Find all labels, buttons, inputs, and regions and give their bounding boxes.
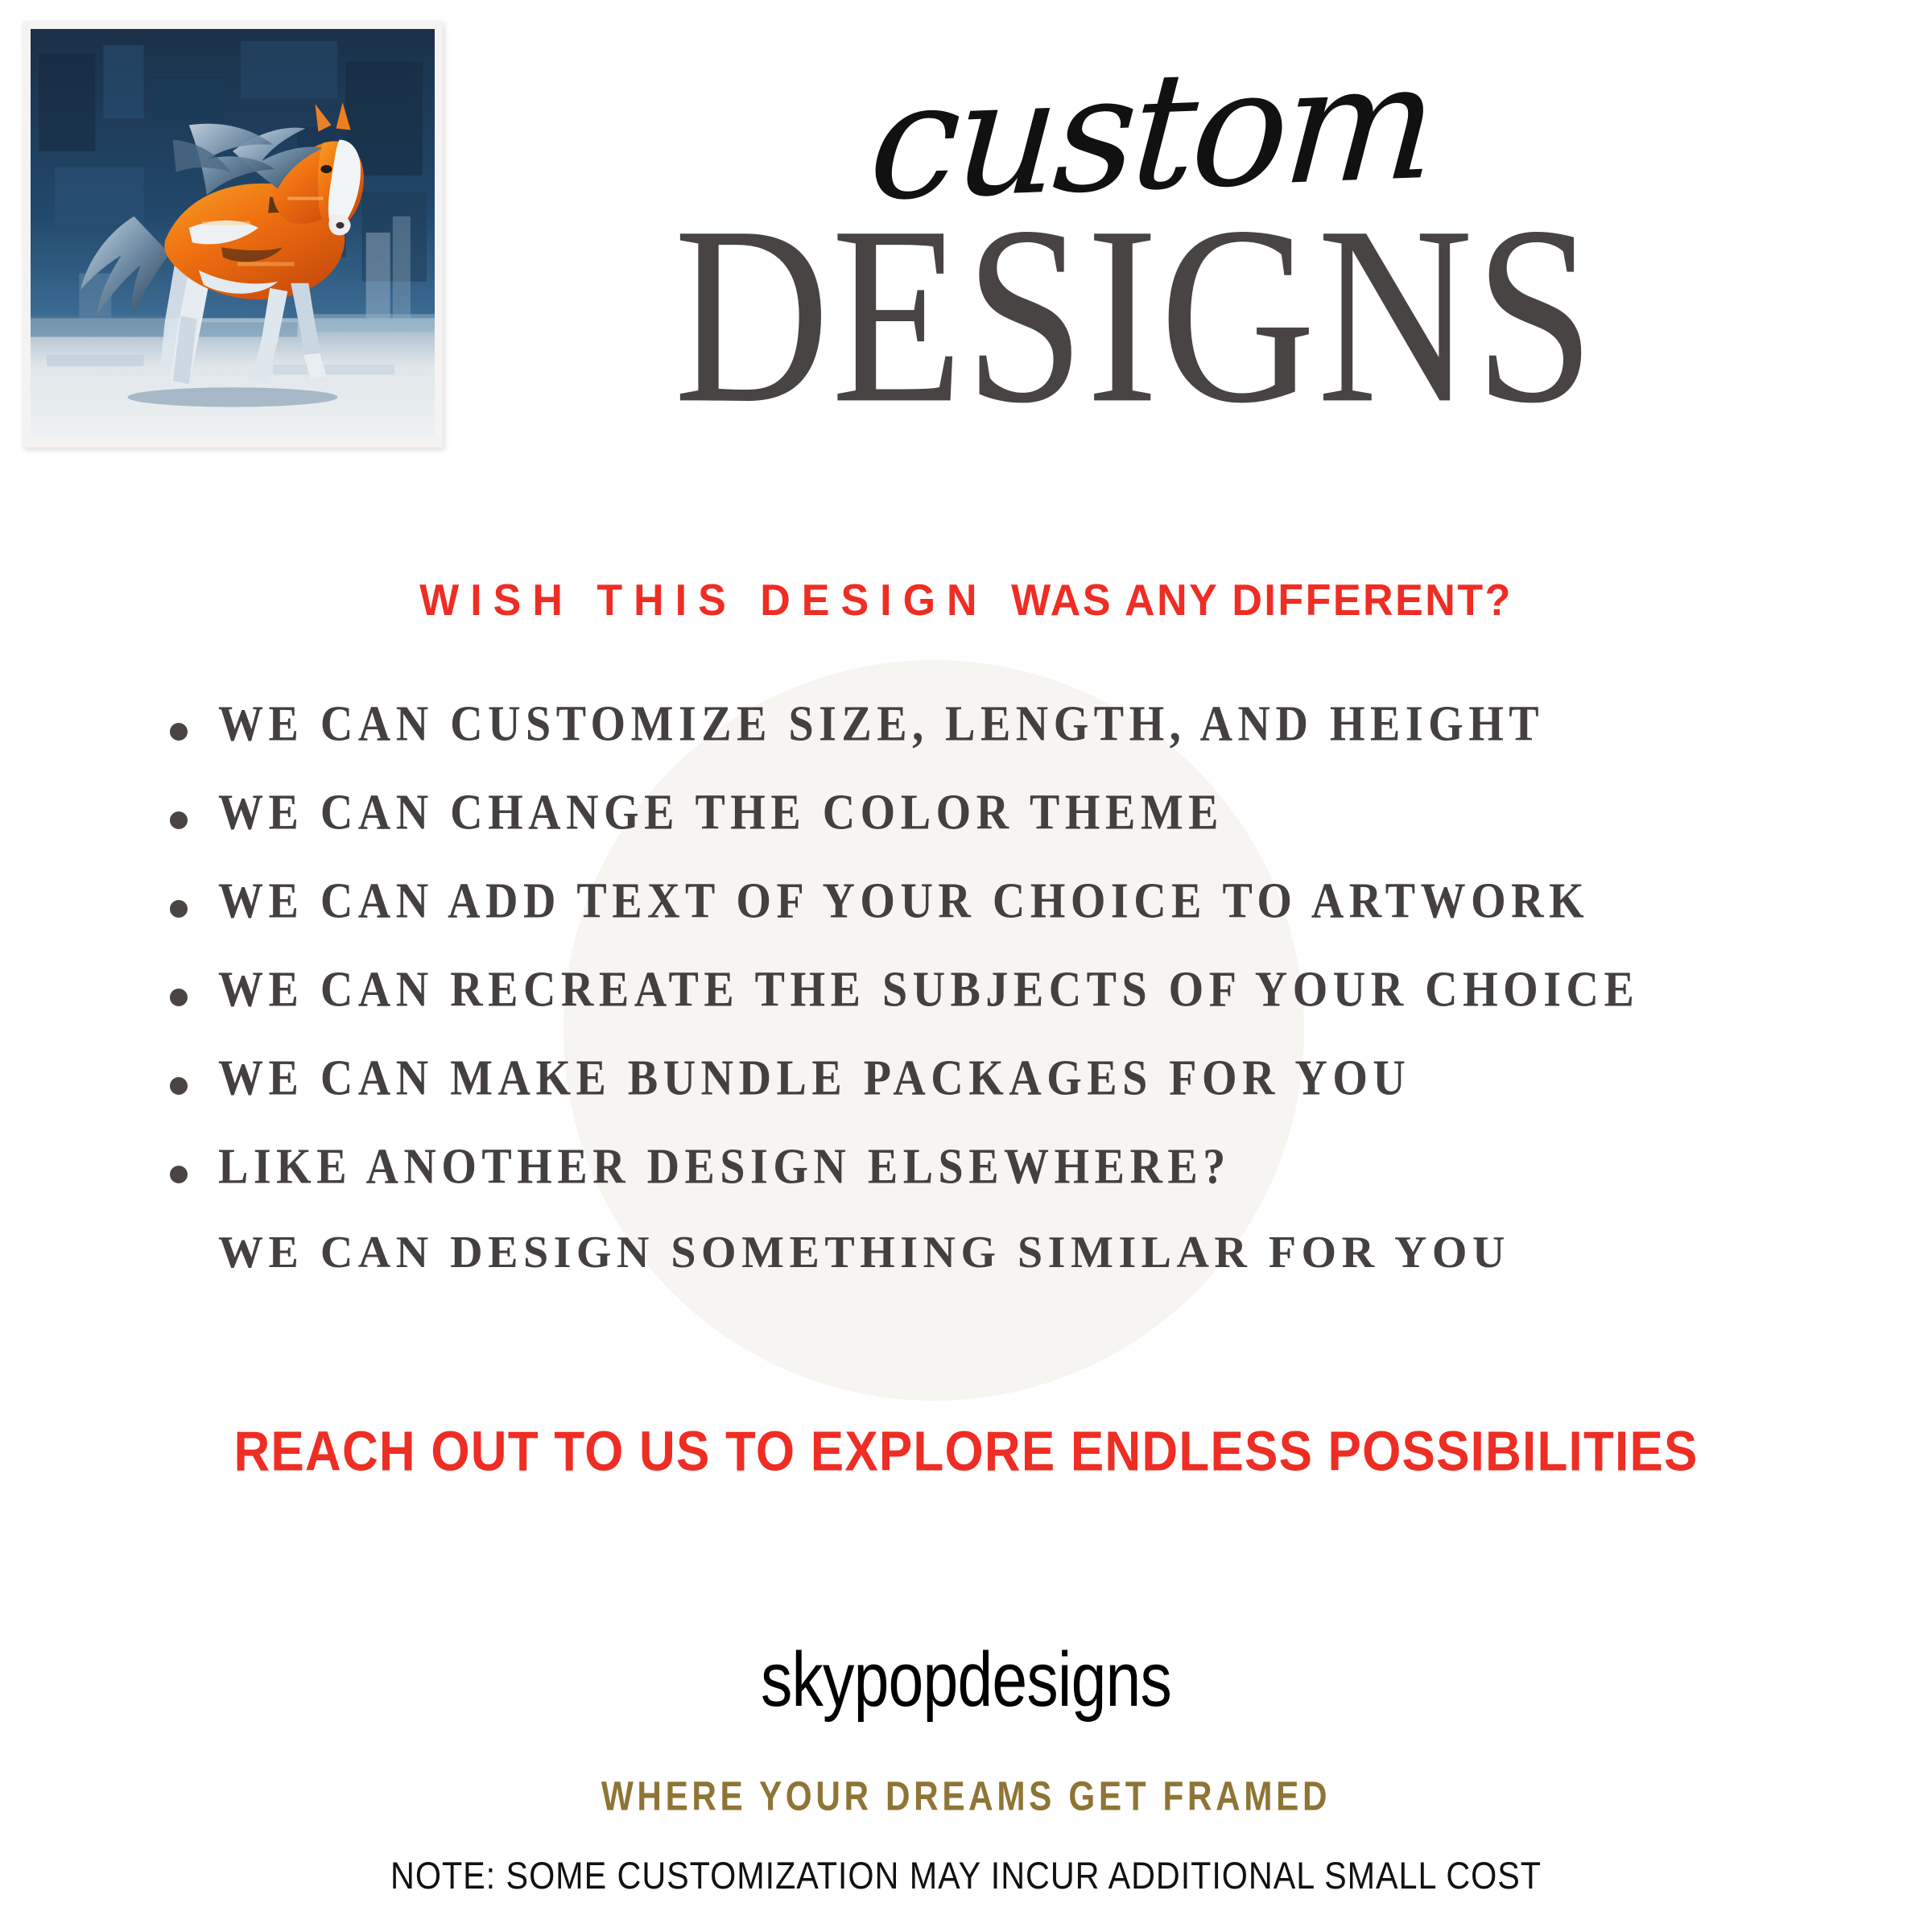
list-item: WE CAN MAKE BUNDLE PACKAGES FOR YOU [157,1053,1864,1141]
call-to-action-text: REACH OUT TO US TO EXPLORE ENDLESS POSSI… [0,1420,1932,1484]
list-item-continuation: WE CAN DESIGN SOMETHING SIMILAR FOR YOU [157,1230,1864,1319]
brand-logo-text: skypopdesigns [174,1636,1758,1724]
list-item: WE CAN CHANGE THE COLOR THEME [157,787,1864,876]
brand-tagline: WHERE YOUR DREAMS GET FRAMED [77,1772,1855,1819]
list-item: WE CAN CUSTOMIZE SIZE, LENGTH, AND HEIGH… [157,699,1864,787]
page-title: DESIGNS [451,198,1819,432]
feature-label: WE CAN CHANGE THE COLOR THEME [218,787,1224,839]
bullet-dot-icon [170,989,188,1006]
feature-label: WE CAN CUSTOMIZE SIZE, LENGTH, AND HEIGH… [218,699,1544,750]
list-item: WE CAN RECREATE THE SUBJECTS OF YOUR CHO… [157,964,1864,1053]
bullet-dot-icon [170,900,188,918]
sub-headline: WISH THIS DESIGN WAS ANY DIFFERENT? [0,575,1932,626]
feature-label: WE CAN ADD TEXT OF YOUR CHOICE TO ARTWOR… [218,876,1589,927]
artwork-thumbnail[interactable] [23,21,443,448]
horse-painting-canvas [31,29,435,436]
footer-note: NOTE: SOME CUSTOMIZATION MAY INCUR ADDIT… [58,1855,1874,1898]
headline-block: custom DESIGNS [451,56,1819,397]
list-item: WE CAN ADD TEXT OF YOUR CHOICE TO ARTWOR… [157,876,1864,964]
feature-label: WE CAN MAKE BUNDLE PACKAGES FOR YOU [218,1053,1410,1104]
sub-headline-lead: WISH THIS DESIGN [419,576,1011,625]
feature-continuation-label: WE CAN DESIGN SOMETHING SIMILAR FOR YOU [218,1228,1510,1278]
sub-headline-tail: WAS ANY DIFFERENT? [1011,576,1513,625]
feature-label: LIKE ANOTHER DESIGN ELSEWHERE? [218,1141,1231,1193]
bullet-dot-icon [170,723,188,741]
feature-list: WE CAN CUSTOMIZE SIZE, LENGTH, AND HEIGH… [157,699,1864,1319]
bullet-dot-icon [170,811,188,829]
list-item: LIKE ANOTHER DESIGN ELSEWHERE? [157,1141,1864,1230]
horse-painting-icon [31,29,435,436]
feature-label: WE CAN RECREATE THE SUBJECTS OF YOUR CHO… [218,964,1639,1016]
bullet-dot-icon [170,1077,188,1095]
bullet-dot-icon [170,1166,188,1183]
